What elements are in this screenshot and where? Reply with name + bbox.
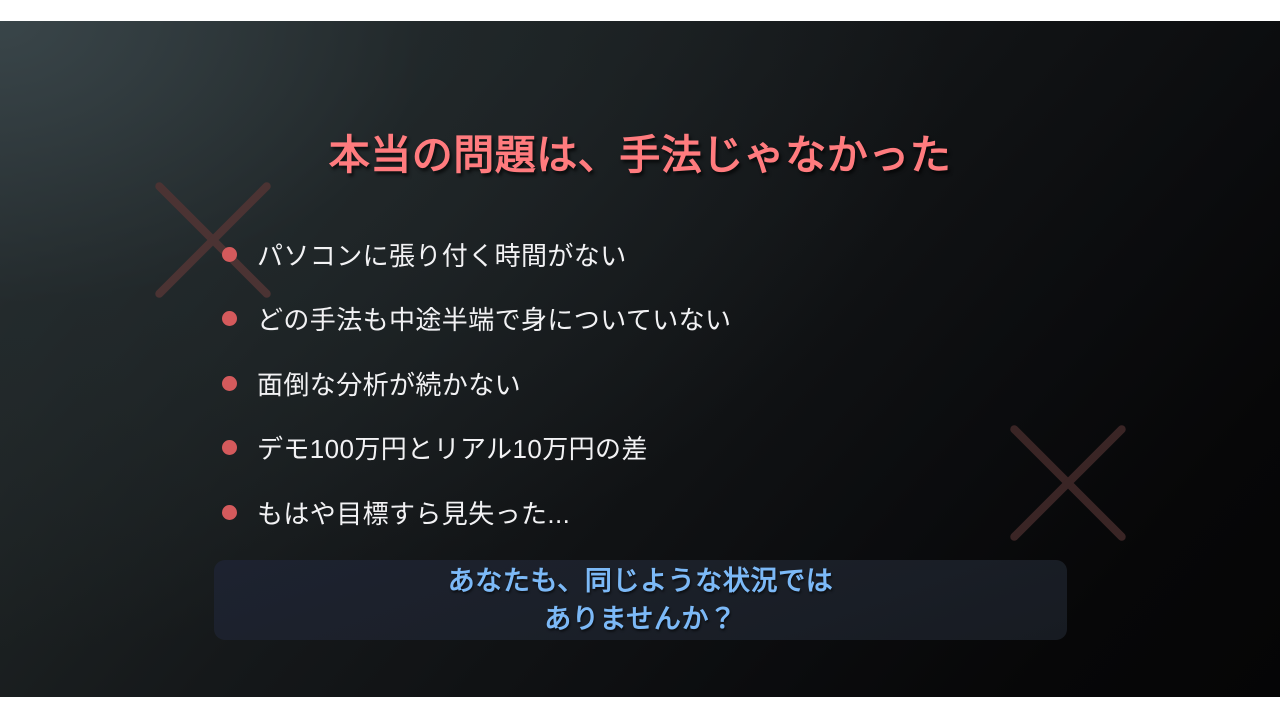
presentation-slide: 本当の問題は、手法じゃなかった パソコンに張り付く時間がない どの手法も中途半端…	[0, 21, 1280, 697]
list-item-label: デモ100万円とリアル10万円の差	[257, 429, 648, 466]
callout-line-2: ありませんか？	[544, 600, 736, 638]
bullet-dot-icon	[222, 376, 237, 391]
list-item-label: どの手法も中途半端で身についていない	[257, 300, 731, 337]
bullet-list: パソコンに張り付く時間がない どの手法も中途半端で身についていない 面倒な分析が…	[222, 233, 731, 556]
cross-mark-icon	[1010, 425, 1125, 540]
list-item: もはや目標すら見失った...	[222, 491, 731, 533]
list-item: パソコンに張り付く時間がない	[222, 233, 731, 275]
bullet-dot-icon	[222, 505, 237, 520]
callout-box: あなたも、同じような状況では ありませんか？	[214, 560, 1067, 640]
cross-stroke	[1008, 423, 1127, 542]
list-item-label: パソコンに張り付く時間がない	[257, 236, 627, 273]
slide-title: 本当の問題は、手法じゃなかった	[0, 121, 1280, 181]
list-item: デモ100万円とリアル10万円の差	[222, 427, 731, 469]
bullet-dot-icon	[222, 247, 237, 262]
list-item-label: もはや目標すら見失った...	[257, 494, 570, 531]
cross-stroke	[1008, 423, 1127, 542]
bullet-dot-icon	[222, 311, 237, 326]
bullet-dot-icon	[222, 440, 237, 455]
callout-line-1: あなたも、同じような状況では	[448, 562, 834, 600]
list-item: どの手法も中途半端で身についていない	[222, 298, 731, 340]
list-item-label: 面倒な分析が続かない	[257, 365, 521, 402]
list-item: 面倒な分析が続かない	[222, 362, 731, 404]
